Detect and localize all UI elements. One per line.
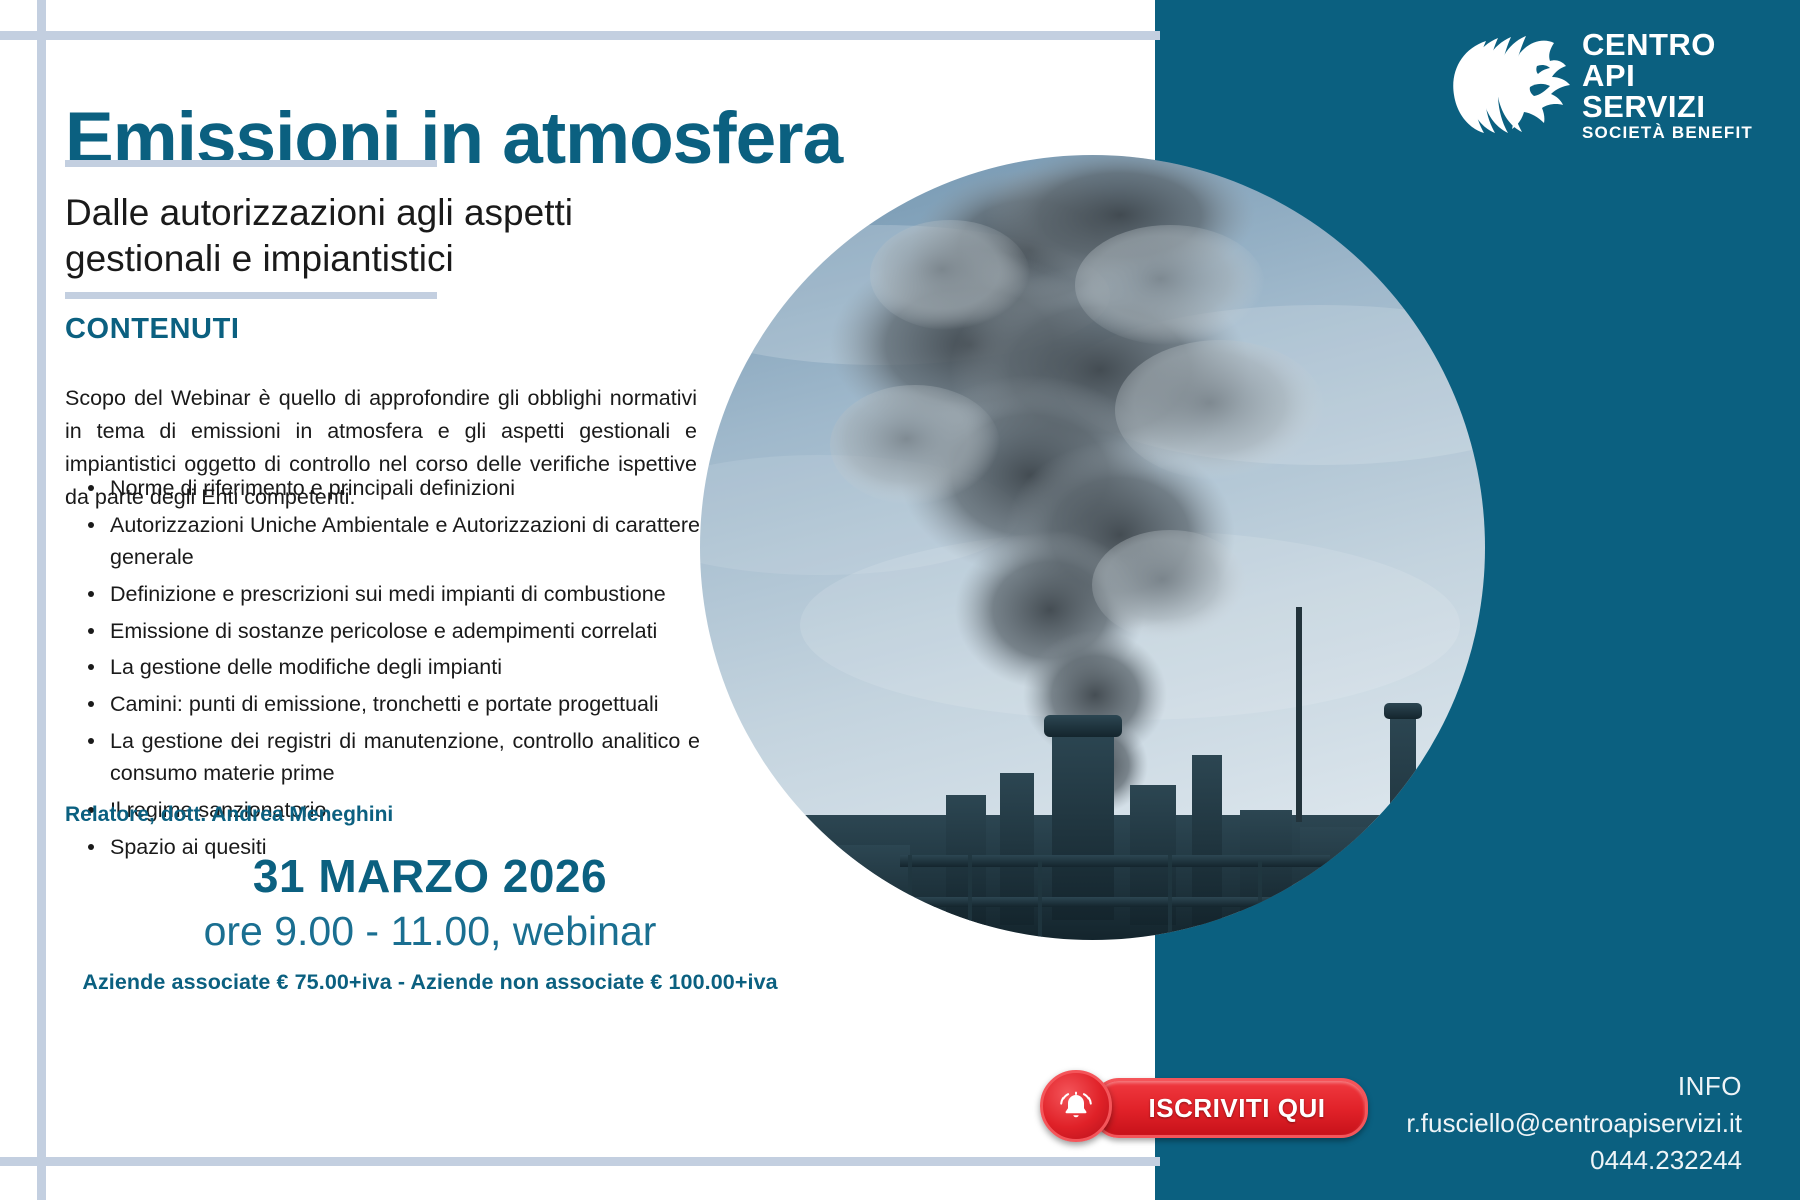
company-logo: CENTRO API SERVIZI SOCIETÀ BENEFIT — [1432, 30, 1762, 140]
register-button-label: ISCRIVITI QUI — [1135, 1093, 1326, 1124]
register-cta[interactable]: ISCRIVITI QUI — [1040, 1070, 1370, 1140]
info-heading: INFO — [1406, 1068, 1742, 1105]
photo-illustration — [700, 155, 1485, 940]
divider-top — [65, 160, 437, 167]
list-item: Autorizzazioni Uniche Ambientale e Autor… — [80, 509, 700, 574]
section-heading-contenuti: CONTENUTI — [65, 313, 240, 346]
smokestack-photo — [700, 155, 1485, 940]
frame-line-vertical — [37, 0, 46, 1200]
register-button[interactable]: ISCRIVITI QUI — [1092, 1078, 1368, 1138]
logo-line-3: SOCIETÀ BENEFIT — [1582, 124, 1762, 141]
logo-line-1: CENTRO — [1582, 29, 1762, 60]
info-block: INFO r.fusciello@centroapiservizi.it 044… — [1406, 1068, 1742, 1179]
list-item: Definizione e prescrizioni sui medi impi… — [80, 578, 700, 611]
event-time: ore 9.00 - 11.00, webinar — [40, 907, 820, 956]
frame-line-bottom — [0, 1157, 1160, 1166]
list-item: La gestione delle modifiche degli impian… — [80, 651, 700, 684]
logo-line-2: API SERVIZI — [1582, 60, 1762, 122]
poster-root: CENTRO API SERVIZI SOCIETÀ BENEFIT Emiss… — [0, 0, 1800, 1200]
bell-icon — [1056, 1086, 1096, 1126]
bell-badge[interactable] — [1040, 1070, 1112, 1142]
event-price: Aziende associate € 75.00+iva - Aziende … — [40, 970, 820, 995]
lion-head-icon — [1432, 33, 1572, 138]
list-item: Camini: punti di emissione, tronchetti e… — [80, 688, 700, 721]
page-subtitle: Dalle autorizzazioni agli aspetti gestio… — [65, 190, 725, 283]
frame-line-top — [0, 31, 1160, 40]
list-item: Emissione di sostanze pericolose e ademp… — [80, 615, 700, 648]
divider-bottom — [65, 292, 437, 299]
list-item: La gestione dei registri di manutenzione… — [80, 725, 700, 790]
info-phone[interactable]: 0444.232244 — [1406, 1142, 1742, 1179]
speaker-name: Relatore, dott. Andrea Meneghini — [65, 803, 393, 827]
logo-wordmark: CENTRO API SERVIZI SOCIETÀ BENEFIT — [1582, 29, 1762, 141]
info-email[interactable]: r.fusciello@centroapiservizi.it — [1406, 1105, 1742, 1142]
list-item: Norme di riferimento e principali defini… — [80, 472, 700, 505]
event-date: 31 MARZO 2026 — [40, 850, 820, 903]
event-details: 31 MARZO 2026 ore 9.00 - 11.00, webinar … — [40, 850, 820, 995]
